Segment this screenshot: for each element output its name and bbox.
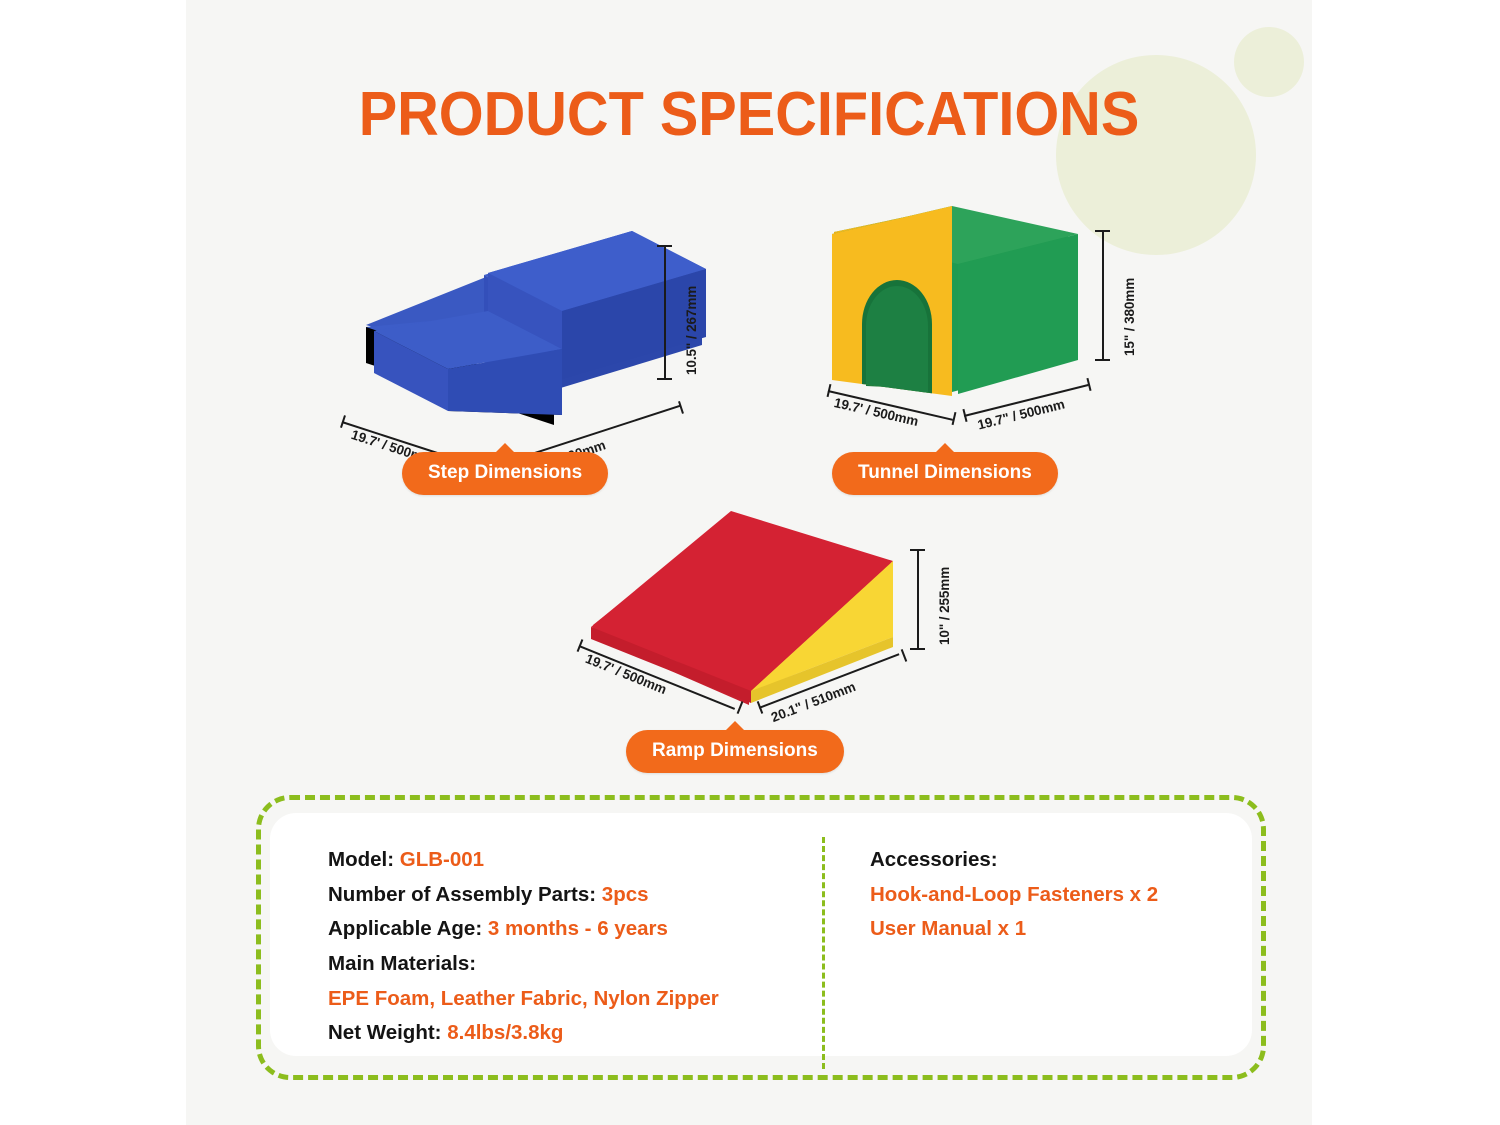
spec-value-weight: 8.4lbs/3.8kg — [447, 1021, 563, 1044]
figure-step: 19.7' / 500mm 19.7" / 500mm 10.5" / 267m… — [336, 215, 716, 455]
spec-value-parts: 3pcs — [602, 883, 649, 906]
spec-card: Model: GLB-001 Number of Assembly Parts:… — [270, 813, 1252, 1056]
column-divider — [822, 837, 825, 1069]
pill-step-dimensions: Step Dimensions — [402, 452, 608, 495]
ramp-dim-cap-bottom — [910, 648, 925, 650]
specification-panel: Model: GLB-001 Number of Assembly Parts:… — [256, 795, 1266, 1080]
step-dim-line-vertical — [664, 245, 666, 379]
step-dim-vertical: 10.5" / 267mm — [684, 286, 699, 375]
spec-row-model: Model: GLB-001 — [328, 843, 810, 878]
page-title: PRODUCT SPECIFICATIONS — [225, 84, 1272, 146]
pill-tunnel-dimensions: Tunnel Dimensions — [832, 452, 1058, 495]
figure-ramp: 19.7' / 500mm 20.1" / 510mm 10" / 255mm — [561, 495, 941, 725]
ramp-dim-cap-top — [910, 549, 925, 551]
ramp-dim-vertical: 10" / 255mm — [937, 567, 952, 645]
spec-label-weight: Net Weight: — [328, 1021, 442, 1044]
spec-value-materials: EPE Foam, Leather Fabric, Nylon Zipper — [328, 982, 810, 1017]
spec-label-parts: Number of Assembly Parts: — [328, 883, 596, 906]
spec-row-weight: Net Weight: 8.4lbs/3.8kg — [328, 1016, 810, 1051]
tunnel-dim-cap-top — [1095, 230, 1110, 232]
spec-accessory-item: User Manual x 1 — [870, 912, 1252, 947]
spec-column-left: Model: GLB-001 Number of Assembly Parts:… — [270, 813, 810, 1056]
blue-step-block-shape — [336, 215, 716, 455]
spec-row-parts: Number of Assembly Parts: 3pcs — [328, 878, 810, 913]
content-panel: PRODUCT SPECIFICATIONS — [186, 0, 1312, 1125]
ramp-dim-line-vertical — [917, 549, 919, 649]
tunnel-dim-cap-bottom — [1095, 359, 1110, 361]
spec-value-model: GLB-001 — [400, 848, 484, 871]
spec-label-materials: Main Materials: — [328, 947, 810, 982]
spec-label-age: Applicable Age: — [328, 917, 482, 940]
tunnel-dim-vertical: 15" / 380mm — [1122, 278, 1137, 356]
spec-accessory-item: Hook-and-Loop Fasteners x 2 — [870, 878, 1252, 913]
page-canvas: PRODUCT SPECIFICATIONS — [0, 0, 1500, 1125]
pill-ramp-dimensions: Ramp Dimensions — [626, 730, 844, 773]
spec-label-accessories: Accessories: — [870, 843, 1252, 878]
figure-tunnel: 19.7' / 500mm 19.7" / 500mm 15" / 380mm — [806, 190, 1146, 440]
red-yellow-ramp-block-shape — [561, 495, 941, 725]
spec-row-age: Applicable Age: 3 months - 6 years — [328, 912, 810, 947]
step-dim-cap-bottom — [657, 378, 672, 380]
spec-column-right: Accessories: Hook-and-Loop Fasteners x 2… — [810, 813, 1252, 1056]
spec-label-model: Model: — [328, 848, 394, 871]
step-dim-cap-top — [657, 245, 672, 247]
spec-value-age: 3 months - 6 years — [488, 917, 668, 940]
tunnel-dim-line-vertical — [1102, 230, 1104, 360]
